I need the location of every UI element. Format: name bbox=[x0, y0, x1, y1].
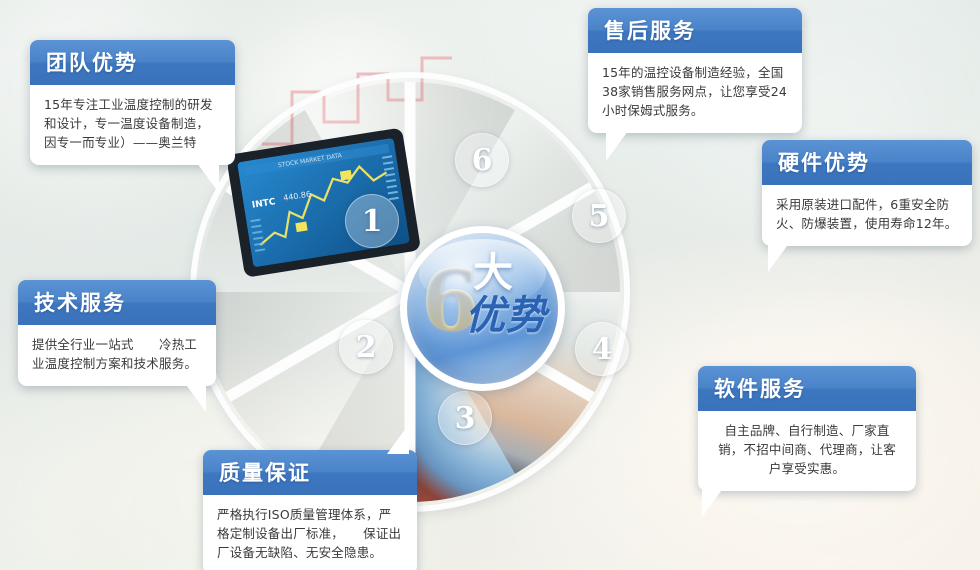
card-quality-body: 严格执行ISO质量管理体系，严格定制设备出厂标准， 保证出厂设备无缺陷、无安全隐… bbox=[203, 495, 417, 570]
wheel-number-3-label: 3 bbox=[455, 401, 476, 436]
card-software-title: 软件服务 bbox=[698, 366, 916, 411]
wheel-number-5[interactable]: 5 bbox=[572, 189, 626, 243]
hub-char-da: 大 bbox=[473, 253, 513, 293]
card-hardware-title: 硬件优势 bbox=[762, 140, 972, 185]
card-team-tail bbox=[197, 163, 219, 193]
card-after-sales-body: 15年的温控设备制造经验，全国38家销售服务网点，让您享受24小时保姆式服务。 bbox=[588, 53, 802, 133]
tablet-device-illustration: INTC 440.86 STOCK MARKET DATA bbox=[228, 122, 428, 302]
card-team[interactable]: 团队优势 15年专注工业温度控制的研发和设计，专一温度设备制造，因专一而专业）—… bbox=[30, 40, 235, 165]
wheel-number-2-label: 2 bbox=[356, 330, 377, 365]
wheel-number-6-label: 6 bbox=[472, 143, 493, 178]
infographic-canvas: INTC 440.86 STOCK MARKET DATA bbox=[0, 0, 980, 570]
card-team-body: 15年专注工业温度控制的研发和设计，专一温度设备制造，因专一而专业）——奥兰特 bbox=[30, 85, 235, 165]
card-hardware-tail bbox=[768, 242, 790, 272]
wheel-number-4[interactable]: 4 bbox=[575, 322, 629, 376]
wheel-number-1[interactable]: 1 bbox=[345, 194, 399, 248]
card-technical-tail bbox=[184, 382, 206, 412]
card-technical-body: 提供全行业一站式 冷热工业温度控制方案和技术服务。 bbox=[18, 325, 216, 386]
hub-script-youshi: 优势 bbox=[465, 295, 547, 337]
card-after-sales-tail bbox=[606, 131, 628, 161]
wheel-number-1-label: 1 bbox=[362, 204, 383, 239]
wheel-number-3[interactable]: 3 bbox=[438, 391, 492, 445]
wheel-number-6[interactable]: 6 bbox=[455, 133, 509, 187]
card-after-sales[interactable]: 售后服务 15年的温控设备制造经验，全国38家销售服务网点，让您享受24小时保姆… bbox=[588, 8, 802, 133]
card-after-sales-title: 售后服务 bbox=[588, 8, 802, 53]
card-software[interactable]: 软件服务 自主品牌、自行制造、厂家直销，不招中间商、代理商，让客户享受实惠。 bbox=[698, 366, 916, 491]
card-software-body: 自主品牌、自行制造、厂家直销，不招中间商、代理商，让客户享受实惠。 bbox=[698, 411, 916, 491]
card-team-title: 团队优势 bbox=[30, 40, 235, 85]
card-technical-title: 技术服务 bbox=[18, 280, 216, 325]
wheel-number-5-label: 5 bbox=[589, 199, 610, 234]
center-hub: 6 大 优势 bbox=[400, 226, 565, 391]
wheel-number-4-label: 4 bbox=[592, 332, 613, 367]
card-quality[interactable]: 质量保证 严格执行ISO质量管理体系，严格定制设备出厂标准， 保证出厂设备无缺陷… bbox=[203, 450, 417, 570]
card-hardware[interactable]: 硬件优势 采用原装进口配件，6重安全防火、防爆装置，使用寿命12年。 bbox=[762, 140, 972, 246]
card-software-tail bbox=[702, 487, 724, 517]
card-quality-title: 质量保证 bbox=[203, 450, 417, 495]
card-technical[interactable]: 技术服务 提供全行业一站式 冷热工业温度控制方案和技术服务。 bbox=[18, 280, 216, 386]
center-hub-inner: 6 大 优势 bbox=[407, 233, 558, 384]
card-quality-tail bbox=[387, 424, 409, 454]
wheel-number-2[interactable]: 2 bbox=[339, 320, 393, 374]
card-hardware-body: 采用原装进口配件，6重安全防火、防爆装置，使用寿命12年。 bbox=[762, 185, 972, 246]
